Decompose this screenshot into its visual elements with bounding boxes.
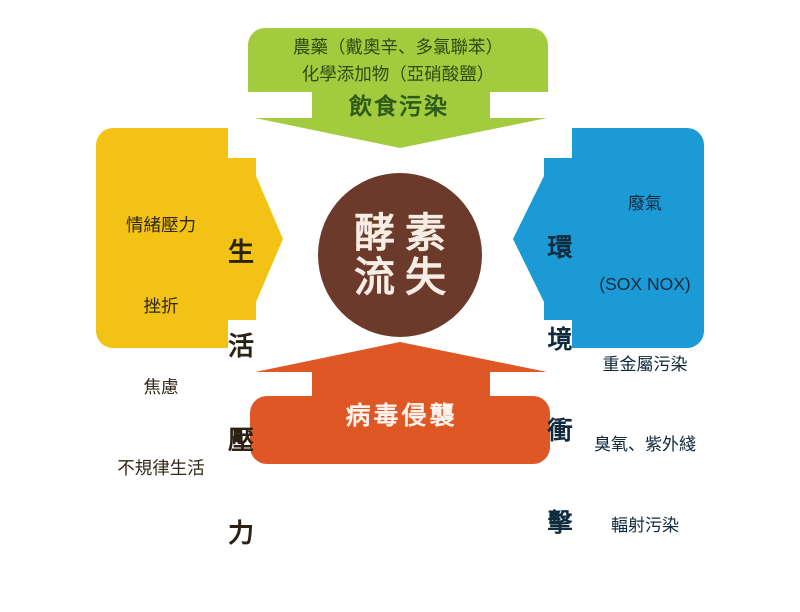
center-label-line1: 酵素 [344,211,456,255]
center-label-group: 酵素 流失 [318,173,482,337]
right-title-char-3: 擊 [543,508,577,539]
left-title-char-3: 力 [224,518,258,549]
center-label-line2: 流失 [344,255,456,299]
enzyme-loss-diagram: 酵素 流失 農藥（戴奧辛、多氯聯苯） 化學添加物（亞硝酸鹽） 飲食污染 情緒壓力… [0,0,800,493]
branch-shape-bottom[interactable] [250,342,550,464]
branch-shape-top[interactable] [248,28,548,148]
branch-shape-right[interactable] [513,128,704,348]
right-detail-item-4: 輻射污染 [575,506,715,545]
branch-shape-left[interactable] [96,128,283,348]
